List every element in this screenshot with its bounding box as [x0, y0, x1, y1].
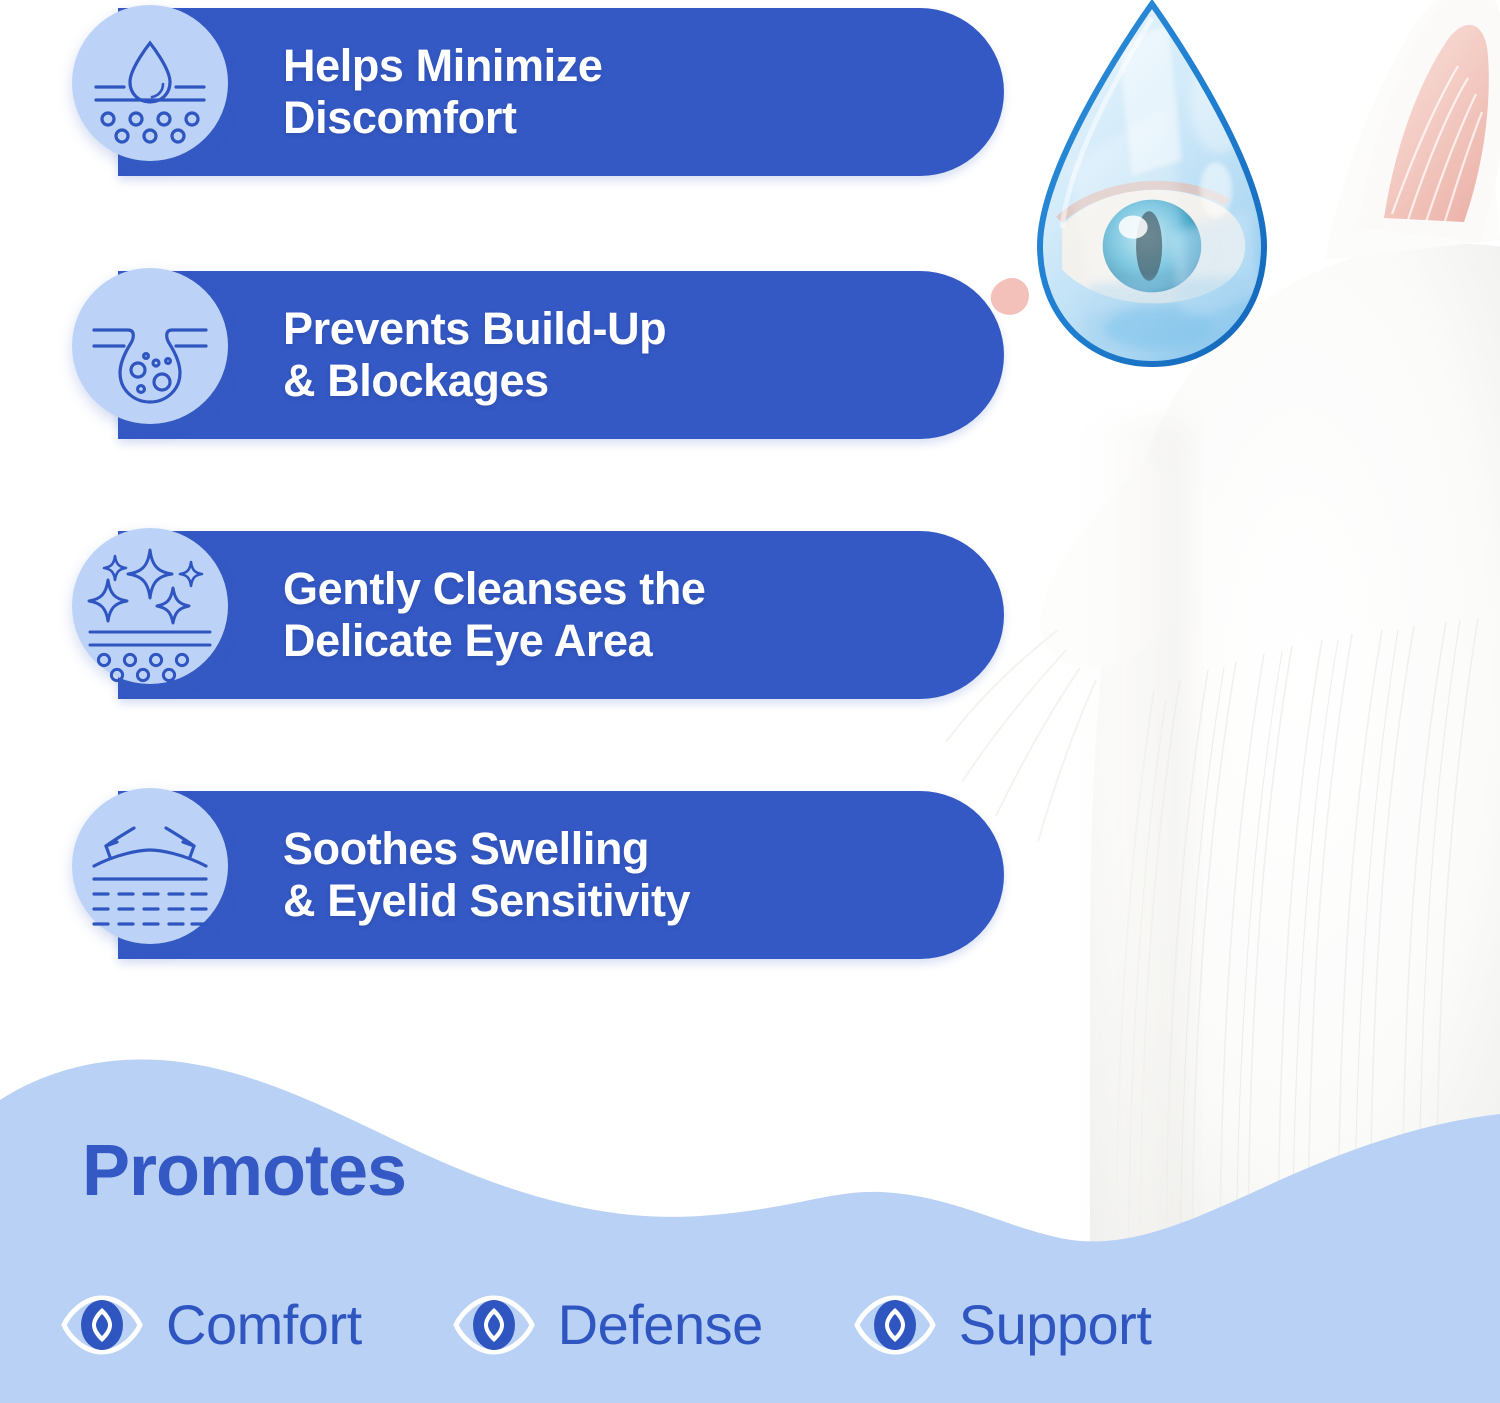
promotes-items-row: Comfort Defense Support: [60, 1280, 1460, 1370]
promotes-item-comfort[interactable]: Comfort: [60, 1292, 362, 1358]
benefit-label-3: Gently Cleanses the Delicate Eye Area: [283, 563, 706, 667]
eye-icon: [853, 1292, 937, 1358]
benefit-label-4: Soothes Swelling & Eyelid Sensitivity: [283, 823, 690, 927]
promotes-item-defense[interactable]: Defense: [452, 1292, 763, 1358]
benefit-row-4[interactable]: Soothes Swelling & Eyelid Sensitivity: [0, 788, 1030, 963]
droplet-on-skin-icon: [72, 5, 228, 161]
benefit-label-1: Helps Minimize Discomfort: [283, 40, 602, 144]
promotes-heading: Promotes: [82, 1135, 406, 1207]
benefit-pill-4[interactable]: Soothes Swelling & Eyelid Sensitivity: [118, 791, 1004, 959]
benefits-list: Helps Minimize Discomfort: [0, 0, 1030, 1000]
promotes-item-support[interactable]: Support: [853, 1292, 1152, 1358]
clogged-pore-icon: [72, 268, 228, 424]
infographic-canvas: Helps Minimize Discomfort: [0, 0, 1500, 1403]
soothing-arrows-skin-icon: [72, 788, 228, 944]
benefit-row-3[interactable]: Gently Cleanses the Delicate Eye Area: [0, 528, 1030, 703]
promotes-label-support: Support: [959, 1297, 1152, 1353]
benefit-row-2[interactable]: Prevents Build-Up & Blockages: [0, 268, 1030, 443]
sparkles-clean-skin-icon: [72, 528, 228, 684]
promotes-label-comfort: Comfort: [166, 1297, 362, 1353]
benefit-pill-3[interactable]: Gently Cleanses the Delicate Eye Area: [118, 531, 1004, 699]
benefit-pill-2[interactable]: Prevents Build-Up & Blockages: [118, 271, 1004, 439]
promotes-label-defense: Defense: [558, 1297, 763, 1353]
benefit-row-1[interactable]: Helps Minimize Discomfort: [0, 5, 1030, 180]
eye-icon: [60, 1292, 144, 1358]
benefit-pill-1[interactable]: Helps Minimize Discomfort: [118, 8, 1004, 176]
benefit-label-2: Prevents Build-Up & Blockages: [283, 303, 666, 407]
eye-icon: [452, 1292, 536, 1358]
